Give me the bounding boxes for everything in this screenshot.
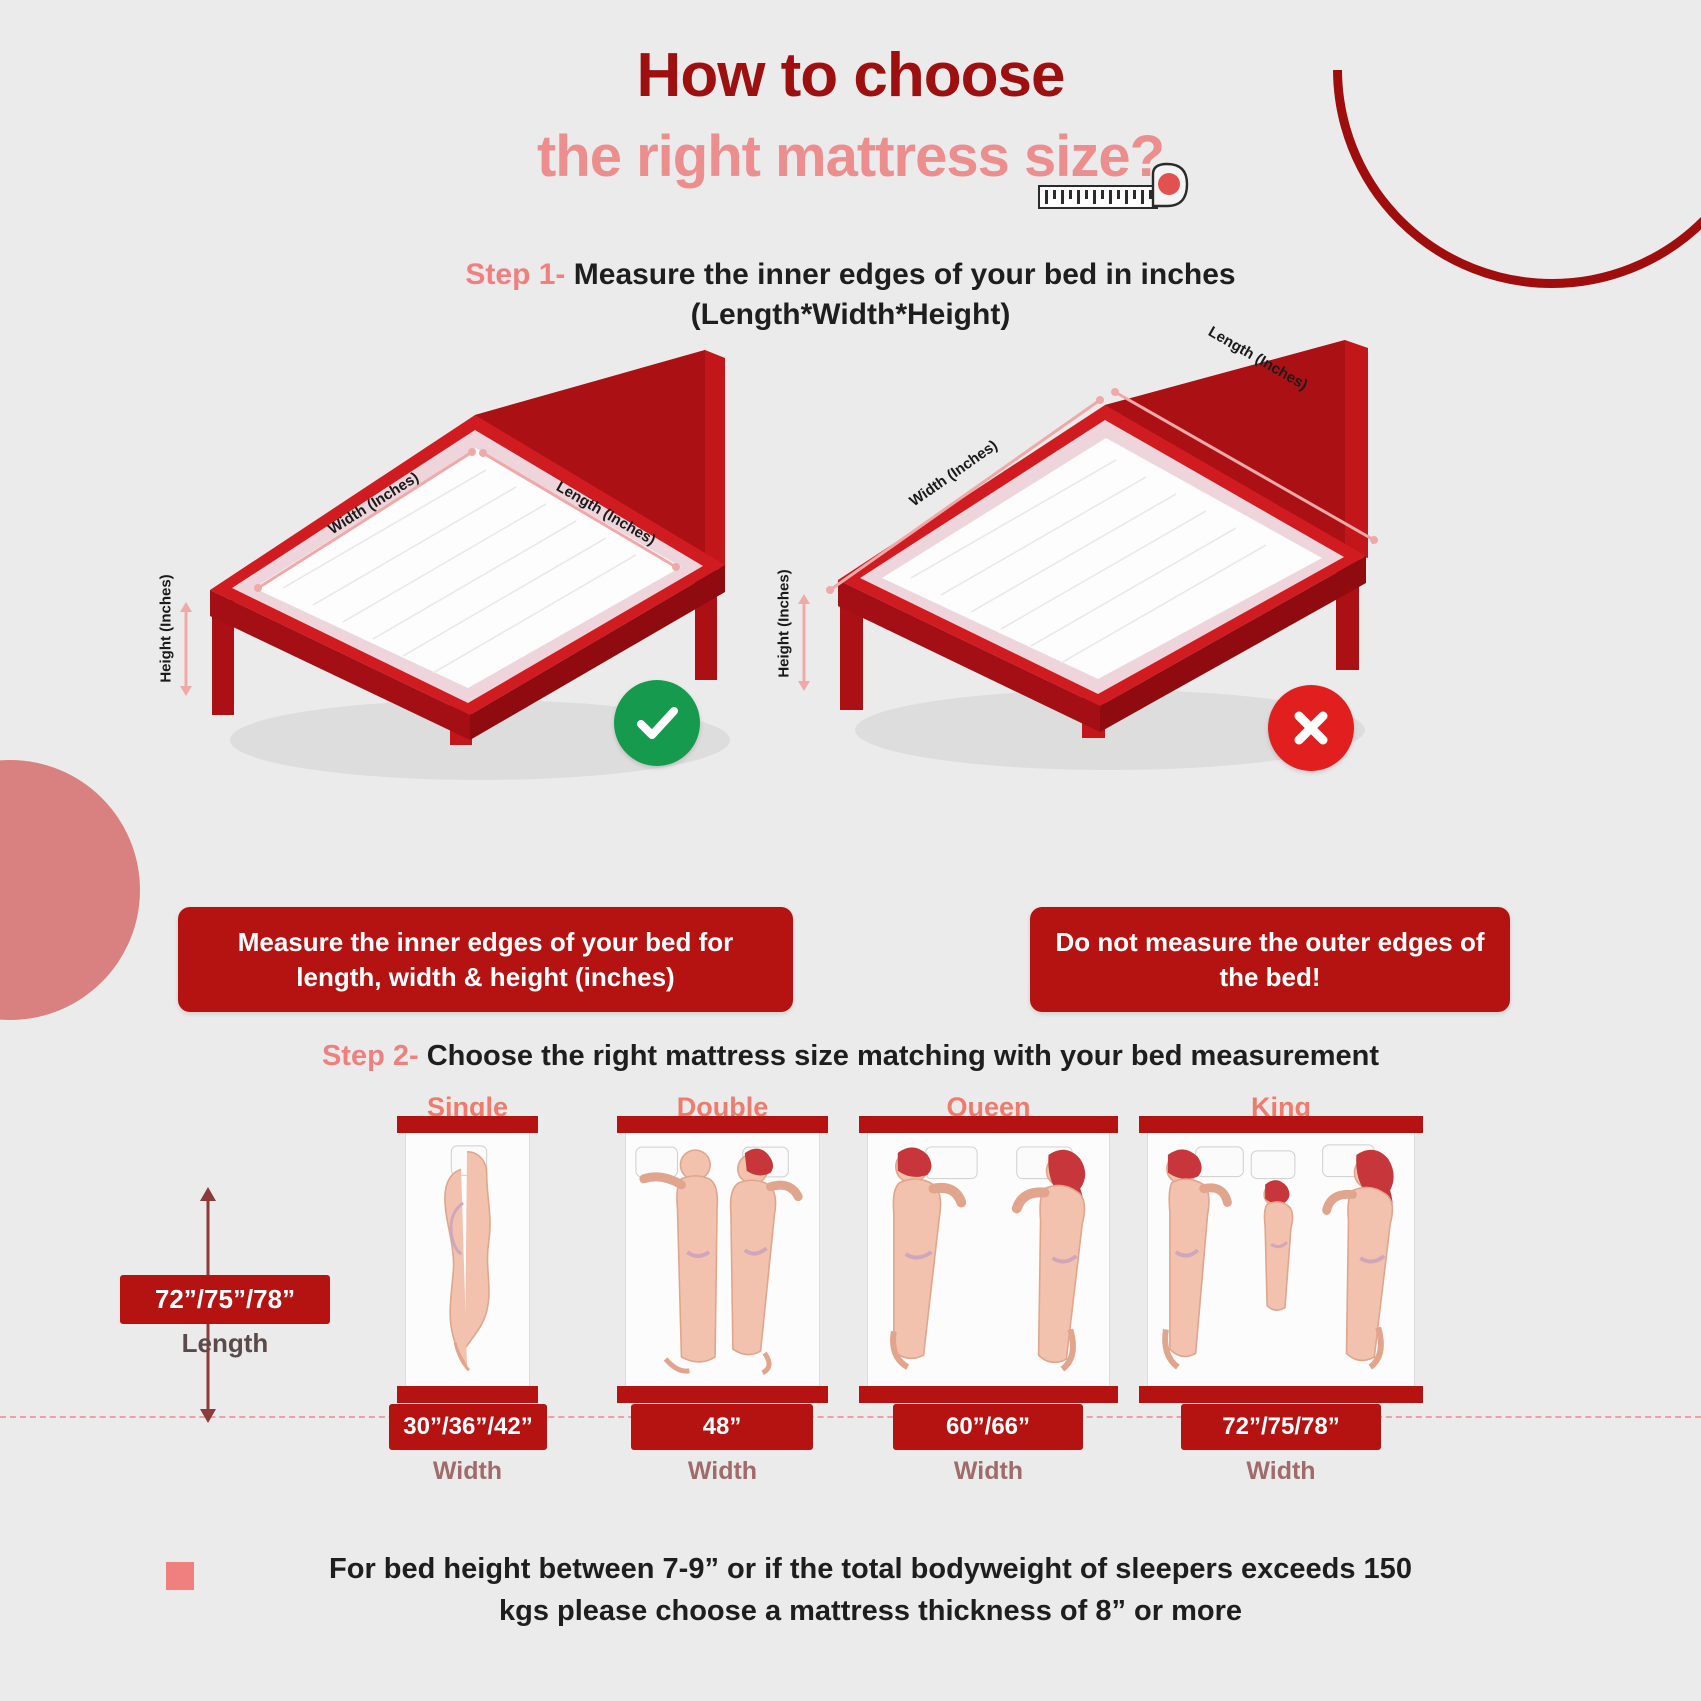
step2-heading: Step 2- Choose the right mattress size m… bbox=[0, 1040, 1701, 1073]
step1-keyword: Step 1- bbox=[465, 258, 565, 291]
size-column-queen[interactable]: Queen bbox=[867, 1132, 1110, 1387]
mattress-queen bbox=[867, 1132, 1110, 1387]
width-caption-single: Width bbox=[405, 1457, 530, 1486]
width-badge-single: 30”/36”/42” bbox=[389, 1404, 547, 1450]
mattress-bottom-bar bbox=[617, 1386, 828, 1403]
size-column-king[interactable]: King bbox=[1147, 1132, 1415, 1387]
width-badge-king: 72”/75/78” bbox=[1181, 1404, 1381, 1450]
step2-text: Choose the right mattress size matching … bbox=[427, 1040, 1379, 1072]
footnote-line2: kgs please choose a mattress thickness o… bbox=[40, 1590, 1701, 1632]
step2-keyword: Step 2- bbox=[322, 1040, 419, 1072]
page-title-line2: the right mattress size? bbox=[0, 123, 1701, 190]
length-caption: Length bbox=[120, 1328, 330, 1359]
length-value-badge: 72”/75”/78” bbox=[120, 1275, 330, 1324]
mattress-bottom-bar bbox=[1139, 1386, 1423, 1403]
page-title-line1: How to choose bbox=[0, 40, 1701, 111]
mattress-top-bar bbox=[397, 1116, 538, 1133]
measuring-tape-icon bbox=[1035, 160, 1195, 230]
footnote: For bed height between 7-9” or if the to… bbox=[0, 1548, 1701, 1632]
size-column-double[interactable]: Double bbox=[625, 1132, 820, 1387]
step1-line1: Measure the inner edges of your bed in i… bbox=[574, 258, 1236, 291]
mattress-double bbox=[625, 1132, 820, 1387]
cross-icon bbox=[1268, 685, 1354, 771]
mattress-top-bar bbox=[1139, 1116, 1423, 1133]
mattress-bottom-bar bbox=[859, 1386, 1118, 1403]
callout-correct: Measure the inner edges of your bed for … bbox=[178, 907, 793, 1012]
size-column-single[interactable]: Single 30”/36”/42” Width bbox=[405, 1132, 530, 1387]
mattress-top-bar bbox=[617, 1116, 828, 1133]
width-badge-queen: 60”/66” bbox=[893, 1404, 1083, 1450]
check-icon bbox=[614, 680, 700, 766]
width-caption-queen: Width bbox=[867, 1457, 1110, 1486]
width-caption-double: Width bbox=[625, 1457, 820, 1486]
decorative-circle-left bbox=[0, 760, 140, 1020]
bed-left-height-label: Height (Inches) bbox=[158, 574, 175, 682]
width-caption-king: Width bbox=[1147, 1457, 1415, 1486]
mattress-single bbox=[405, 1132, 530, 1387]
infographic-canvas: How to choose the right mattress size? S… bbox=[0, 0, 1701, 1701]
width-badge-double: 48” bbox=[631, 1404, 813, 1450]
mattress-top-bar bbox=[859, 1116, 1118, 1133]
mattress-bottom-bar bbox=[397, 1386, 538, 1403]
mattress-king bbox=[1147, 1132, 1415, 1387]
sleeper-figures-king bbox=[1148, 1133, 1414, 1386]
sleeper-figures-queen bbox=[868, 1133, 1109, 1386]
sleeper-figures-double bbox=[626, 1133, 819, 1386]
bed-right-height-label: Height (Inches) bbox=[776, 569, 793, 677]
mattress-size-comparison: Single 30”/36”/42” Width Doub bbox=[405, 1132, 1415, 1442]
step1-heading: Step 1- Measure the inner edges of your … bbox=[0, 258, 1701, 292]
footnote-line1: For bed height between 7-9” or if the to… bbox=[40, 1548, 1701, 1590]
sleeper-figures-single bbox=[406, 1133, 529, 1386]
callout-incorrect: Do not measure the outer edges of the be… bbox=[1030, 907, 1510, 1012]
